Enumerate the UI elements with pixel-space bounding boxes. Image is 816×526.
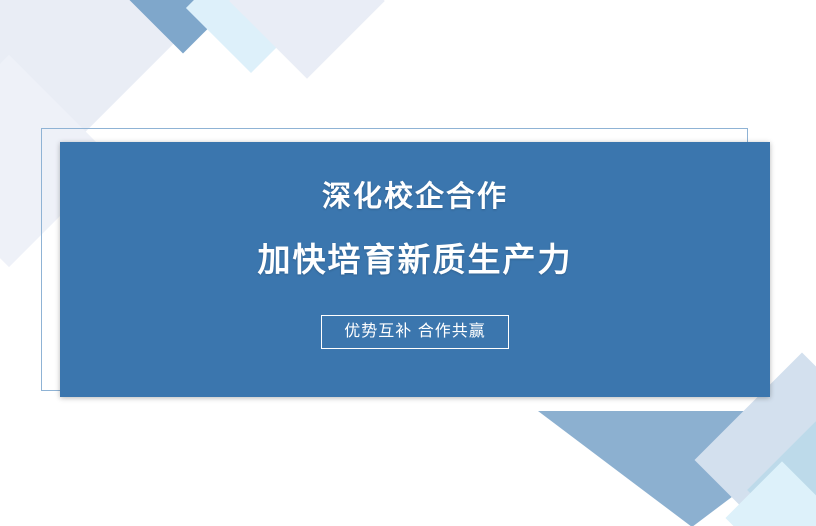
- bottom-right-diamond-shape-2: [747, 405, 816, 526]
- title-panel: 深化校企合作 加快培育新质生产力 优势互补 合作共赢: [60, 142, 770, 397]
- page-title-line-2: 加快培育新质生产力: [258, 243, 573, 277]
- cta-button[interactable]: 优势互补 合作共赢: [321, 315, 508, 349]
- top-cyan-diamond-shape: [186, 0, 316, 73]
- slide-canvas: 深化校企合作 加快培育新质生产力 优势互补 合作共赢: [0, 0, 816, 526]
- bottom-right-triangle-shape: [538, 411, 816, 526]
- top-steel-diamond-shape: [109, 0, 256, 54]
- top-lavender-diamond-shape: [229, 0, 385, 79]
- bottom-right-diamond-shape-3: [725, 461, 816, 526]
- title-panel-content: 深化校企合作 加快培育新质生产力 优势互补 合作共赢: [60, 142, 770, 397]
- page-title-line-1: 深化校企合作: [322, 182, 508, 212]
- top-blue-diamond-shape: [164, 0, 311, 40]
